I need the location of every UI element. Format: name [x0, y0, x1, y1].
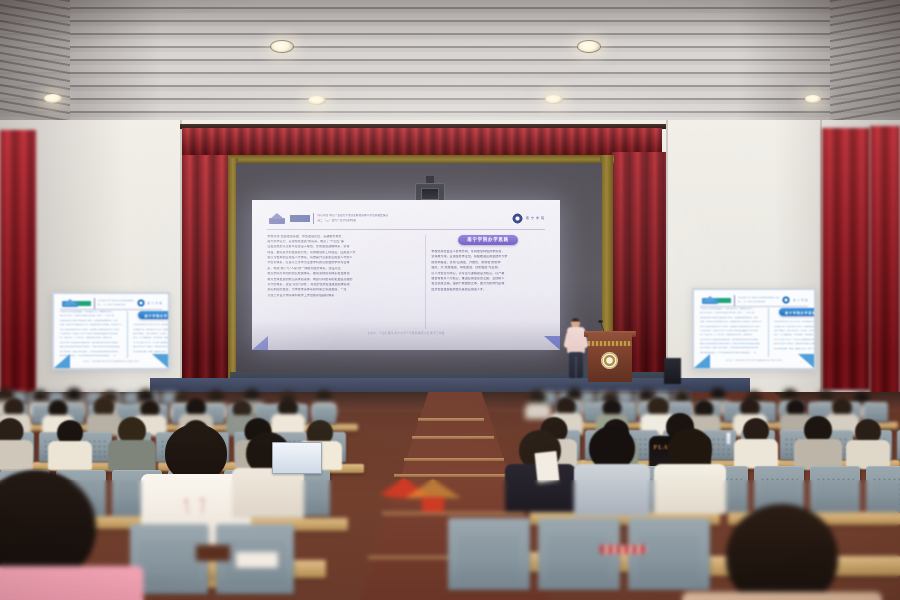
university-seal-icon [137, 299, 145, 307]
slide-corner-decoration [54, 354, 70, 368]
university-seal-text: 南 宁 学 院 [793, 298, 808, 302]
slide-paragraph-line: 重点学院为导向的研究成果体系，推动落地现有体系和当前调 [60, 342, 122, 344]
slide-paragraph-line: 以人才培养为中心，以专业与课程建设为核心，以产教 [133, 342, 170, 344]
desk-item-sunglasses[interactable] [196, 545, 230, 561]
presentation-slide: 同心同德 中心产业园大学生创业孵化基地人才培养模式探讨 其二 （三）现代产业学院… [252, 200, 560, 350]
slide-paragraph-line: 理念，以"质量发展、特色发展、创新发展"为主题， [774, 334, 816, 336]
up-arrow-floor-marking [404, 478, 462, 512]
shirt-graphic-print [174, 490, 218, 518]
slide-header: 同心同德 中心产业园大学生创业孵化基地人才培养模式探讨 其二 （三）现代产业学院… [267, 208, 544, 231]
auditorium-photo: 同心同德 中心产业园大学生创业孵化基地人才培养模式探讨 其二 （三）现代产业学院… [0, 0, 900, 600]
slide-paragraph-line: 融合特色育人为核心，推进应用型复合之路，立德树人 [774, 343, 816, 345]
slide-body: 学校坚持"西部发展基础、中西发展定位、深耕服务地方、 提升办学实力、实现特色发展… [60, 311, 163, 358]
slide-header: 同心同德 中心产业园大学生创业孵化基地人才培养模式探讨 其二 （三）现代产业学院… [60, 298, 163, 311]
slide-paragraph-line: 融合特色育人为核心，推进应用型复合之路，立德树人 [431, 277, 544, 280]
recessed-downlight [44, 94, 62, 103]
stage-curtain-left-leg [182, 155, 230, 380]
recessed-downlight [805, 95, 821, 103]
slide-section-badge: 南宁学院办学思路 [779, 308, 816, 316]
slide-paragraph-line: 以人才培养为中心，以专业与课程建设为核心，以产教 [431, 272, 544, 275]
slide-paragraph-line: 教育支撑发展的前沿需求和需求，构建以科技有机和发展高级的 [700, 343, 762, 345]
stage-curtain-right-outer [822, 128, 870, 390]
header-divider [734, 295, 735, 306]
recessed-downlight [545, 95, 563, 104]
slide-paragraph-line: 和以为根本的应用型人才体系，有效提升高素质应用型人才的人 [267, 256, 411, 259]
slide-section-badge: 南宁学院办学思路 [458, 235, 518, 245]
slide-corner-decoration [152, 354, 168, 368]
slide-footer: 主办方：十四五期间 南宁大学产学研基地研讨会 教学工作组 [54, 358, 168, 368]
auditorium-seat[interactable] [628, 518, 710, 590]
slide-paragraph-line: 坚持教为用，应用型办学定位，积极推进应用型技术大学 [431, 255, 544, 258]
slide-paragraph-line: 育才的体系，建设"双创"基地"，将社的优质促进发展和体系化 [267, 283, 411, 286]
paper-handout[interactable] [236, 552, 278, 568]
logo-bar-icon [77, 301, 91, 306]
university-seal-icon [512, 213, 523, 224]
right-projection-screen[interactable]: 同心同德 中心产业园大学生创业孵化基地人才培养模式探讨 其二 （三）现代产业学院… [692, 288, 816, 370]
left-projection-screen[interactable]: 同心同德 中心产业园大学生创业孵化基地人才培养模式探讨 其二 （三）现代产业学院… [52, 292, 170, 370]
logo-bar-icon [717, 298, 731, 303]
presentation-slide-right-copy: 同心同德 中心产业园大学生创业孵化基地人才培养模式探讨 其二 （三）现代产业学院… [694, 290, 814, 368]
slide-body: 学校坚持"西部发展基础、中西发展定位、深耕服务地方、 提升办学实力、实现特色发展… [700, 308, 808, 357]
slide-paragraph-line: 教育支撑发展的前沿需求和需求，构建以科技有机和发展高级的 [60, 346, 122, 348]
slide-paragraph-line: 经济社会发展提供更高素质应用型人才。 [431, 288, 544, 291]
university-crest-icon [601, 352, 618, 369]
aisle-step [418, 418, 484, 421]
university-seal-icon [782, 296, 790, 304]
recessed-downlight [308, 96, 326, 105]
slide-corner-decoration [798, 354, 814, 368]
slide-paragraph-line: 业发展规划以及各年度建设子规划，形成发展战略体系，坚持 [267, 245, 411, 248]
slide-section-badge: 南宁学院办学思路 [138, 311, 170, 319]
slide-paragraph-line: 落实制度的发展，为学校未来体系和时期之间进发展，一流 [267, 288, 411, 291]
slide-paragraph-line: 重点学院为导向的研究成果体系，推动落地现有体系和当前调 [700, 339, 762, 341]
slide-paragraph-line: 育才的体系，建设"双创"基地"，将社的优质促进发展和体系化 [60, 351, 122, 353]
slide-paragraph-line: 向强、推动多方的发展和分化，有效推动新工科建设、应用型人才 [60, 324, 122, 326]
ceiling-left-bevel [0, 0, 70, 126]
slide-paragraph-line: 和立德建之路，强调产教融合之本，致力为新时代区域 [774, 348, 816, 350]
slide-header-line-1: 同心同德 中心产业园大学生创业孵化基地人才培养模式探讨 [98, 300, 134, 302]
slide-paragraph-line: 系，构建"校+"与"人职"的一体模式服务体系，建设以及 [267, 267, 411, 270]
paper-handout[interactable] [534, 451, 559, 483]
stage-curtain-right-wing [870, 126, 900, 396]
slide-paragraph-line: 重点学院为导向的研究成果体系，推动落地现有体系和当前调 [267, 272, 411, 275]
slide-paragraph-line: 提升办学实力、实现特色发展"的宗旨，制定了"十四五"事 [700, 312, 762, 314]
slide-right-column: 南宁学院办学思路 学校坚持社会主义办学方向，坚持依靠特色办学原则， 坚持教为用，… [768, 308, 816, 357]
slide-paragraph-line: 向强、推动多方的发展和分化，有效推动新工科建设、应用型人才 [267, 251, 411, 254]
slide-header-line-2: 其二 （三）现代产业学院的内涵 [317, 219, 509, 222]
slide-paragraph-line: 育才的体系，建设"双创"基地"，将社的优质促进发展和体系化 [700, 347, 762, 349]
arrow-head-highlight [405, 479, 461, 498]
slide-corner-decoration [252, 336, 268, 350]
stage-curtain-valance [182, 128, 662, 158]
slide-paragraph-line: 业发展规划以及各年度建设子规划，形成发展战略体系，坚持 [60, 320, 122, 322]
slide-paragraph-line: 向强、推动多方的发展和分化，有效推动新工科建设、应用型人才 [700, 321, 762, 323]
slide-paragraph-line: 才培养体系，打造以艺术学为主要学科的高质量的学科专业体 [700, 330, 762, 332]
podium-decorative-band [588, 341, 632, 346]
slide-paragraph-line: 业发展规划以及各年度建设子规划，形成发展战略体系，坚持 [700, 317, 762, 319]
slide-header-line-2: 其二 （三）现代产业学院的内涵 [98, 304, 134, 306]
university-seal-text: 南 宁 学 院 [148, 301, 163, 305]
auditorium-seat[interactable] [810, 466, 860, 512]
house-logo-icon [60, 299, 74, 307]
water-bottle [726, 432, 731, 445]
auditorium-seat[interactable] [866, 466, 900, 512]
aisle-step [412, 436, 494, 439]
slide-footer: 主办方：十四五期间 南宁大学产学研基地研讨会 教学工作组 [694, 357, 814, 368]
arrow-shaft [422, 497, 444, 512]
slide-corner-decoration [694, 354, 710, 368]
slide-header-line-2: 其二 （三）现代产业学院的内涵 [738, 301, 779, 303]
presenter-figure [565, 318, 587, 378]
logo-bar-icon [290, 215, 310, 222]
slide-paragraph-line: 学校坚持社会主义办学方向，坚持依靠特色办学原则， [431, 250, 544, 253]
aisle-step [394, 474, 512, 477]
main-projection-screen[interactable]: 同心同德 中心产业园大学生创业孵化基地人才培养模式探讨 其二 （三）现代产业学院… [252, 200, 560, 350]
university-seal-text: 南 宁 学 院 [526, 216, 545, 220]
slide-footer-text: 主办方：十四五期间 南宁大学产学研基地研讨会 教学工作组 [83, 360, 139, 363]
slide-left-column: 学校坚持"西部发展基础、中西发展定位、深耕服务地方、 提升办学实力、实现特色发展… [267, 235, 411, 330]
aisle-step [382, 512, 524, 515]
slide-corner-decoration [544, 336, 560, 350]
slide-header-line-1: 同心同德 中心产业园大学生创业孵化基地人才培养模式探讨 [317, 214, 509, 217]
slide-paragraph-line: 才培养体系，打造以艺术学为主要学科的高质量的学科专业体 [267, 261, 411, 264]
slide-footer-text: 主办方：十四五期间 南宁大学产学研基地研讨会 教学工作组 [726, 359, 782, 362]
slide-paragraph-line: 教育支撑发展的前沿需求和需求，构建以科技有机和发展高级的 [267, 278, 411, 281]
microphone-head-icon [598, 320, 603, 323]
auditorium-seat[interactable] [538, 518, 620, 590]
slide-paragraph-line: 提升办学实力、实现特色发展"的宗旨，制定了"十四五"事 [267, 240, 411, 243]
slide-paragraph-line: 才培养体系，打造以艺术学为主要学科的高质量的学科专业体 [60, 333, 122, 335]
slide-paragraph-line: 学校坚持"西部发展基础、中西发展定位、深耕服务地方、 [60, 311, 122, 313]
recessed-downlight-ring [270, 40, 294, 53]
house-logo-icon [267, 213, 287, 224]
house-logo-icon [700, 296, 714, 304]
stage-curtain-left-wing [0, 130, 36, 398]
auditorium-seat[interactable] [448, 518, 530, 590]
slide-paragraph-line: 融合特色育人为核心，推进应用型复合之路，立德树人 [133, 346, 170, 348]
slide-body: 学校坚持"西部发展基础、中西发展定位、深耕服务地方、 提升办学实力、实现特色发展… [267, 235, 544, 330]
slide-left-column: 学校坚持"西部发展基础、中西发展定位、深耕服务地方、 提升办学实力、实现特色发展… [60, 311, 122, 358]
slide-header-line-1: 同心同德 中心产业园大学生创业孵化基地人才培养模式探讨 [738, 297, 779, 299]
slide-footer: 主办方：十四五期间 南宁大学产学研基地研讨会 教学工作组 [252, 329, 560, 350]
slide-paragraph-line: 和立德建之路，强调产教融合之本，致力为新时代区域 [431, 282, 544, 285]
slide-paragraph-line: 提升办学实力、实现特色发展"的宗旨，制定了"十四五"事 [60, 315, 122, 317]
header-divider [94, 298, 95, 309]
ceiling-right-bevel [830, 0, 900, 126]
recessed-downlight-ring [577, 40, 601, 53]
slide-paragraph-line: 系，构建"校+"与"人职"的一体模式服务体系，建设以及 [700, 334, 762, 336]
slide-paragraph-line: 的办学路径，贯彻"应用性、开放式、新特色"的办学 [431, 261, 544, 264]
open-laptop[interactable] [272, 442, 322, 474]
slide-paragraph-line: 和以为根本的应用型人才体系，有效提升高素质应用型人才的人 [700, 326, 762, 328]
desk-item-red-card[interactable] [600, 545, 646, 554]
slide-paragraph-line: 系，构建"校+"与"人职"的一体模式服务体系，建设以及 [60, 337, 122, 339]
slide-paragraph-line: 理念，以"质量发展、特色发展、创新发展"为主题， [431, 266, 544, 269]
slide-paragraph-line: 坚持教为用，应用型办学定位，积极推进应用型技术大学 [133, 329, 170, 331]
slide-right-column: 南宁学院办学思路 学校坚持社会主义办学方向，坚持依靠特色办学原则， 坚持教为用，… [127, 311, 170, 358]
slide-paragraph-line: 以人才培养为中心，以专业与课程建设为核心，以产教 [774, 339, 816, 341]
slide-paragraph-line: 理念，以"质量发展、特色发展、创新发展"为主题， [133, 337, 170, 339]
slide-paragraph-line: 学校坚持"西部发展基础、中西发展定位、深耕服务地方、 [700, 308, 762, 310]
slide-paragraph-line: 凡而艺术设计学院本科教学工作合格评估指标体系 [267, 294, 411, 297]
slide-paragraph-line: 的办学路径，贯彻"应用性、开放式、新特色"的办学 [774, 330, 816, 332]
presentation-slide-left-copy: 同心同德 中心产业园大学生创业孵化基地人才培养模式探讨 其二 （三）现代产业学院… [54, 294, 168, 368]
slide-header: 同心同德 中心产业园大学生创业孵化基地人才培养模式探讨 其二 （三）现代产业学院… [700, 294, 808, 307]
slide-footer-text: 主办方：十四五期间 南宁大学产学研基地研讨会 教学工作组 [367, 331, 444, 335]
stage-loudspeaker [664, 358, 681, 384]
slide-left-column: 学校坚持"西部发展基础、中西发展定位、深耕服务地方、 提升办学实力、实现特色发展… [700, 308, 762, 357]
header-divider [313, 213, 314, 224]
slide-paragraph-line: 的办学路径，贯彻"应用性、开放式、新特色"的办学 [133, 333, 170, 335]
slide-paragraph-line: 和立德建之路，强调产教融合之本，致力为新时代区域 [133, 351, 170, 353]
presenter-legs [569, 352, 583, 378]
slide-right-column: 南宁学院办学思路 学校坚持社会主义办学方向，坚持依靠特色办学原则， 坚持教为用，… [425, 235, 544, 330]
seat-row [448, 518, 710, 590]
slide-paragraph-line: 学校坚持社会主义办学方向，坚持依靠特色办学原则， [133, 324, 170, 326]
aisle-step [404, 458, 504, 461]
slide-paragraph-line: 坚持教为用，应用型办学定位，积极推进应用型技术大学 [774, 326, 816, 328]
ceiling-slat-panel [0, 0, 900, 132]
slide-paragraph-line: 和以为根本的应用型人才体系，有效提升高素质应用型人才的人 [60, 329, 122, 331]
slide-paragraph-line: 学校坚持社会主义办学方向，坚持依靠特色办学原则， [774, 321, 816, 323]
slide-paragraph-line: 学校坚持"西部发展基础、中西发展定位、深耕服务地方、 [267, 235, 411, 238]
